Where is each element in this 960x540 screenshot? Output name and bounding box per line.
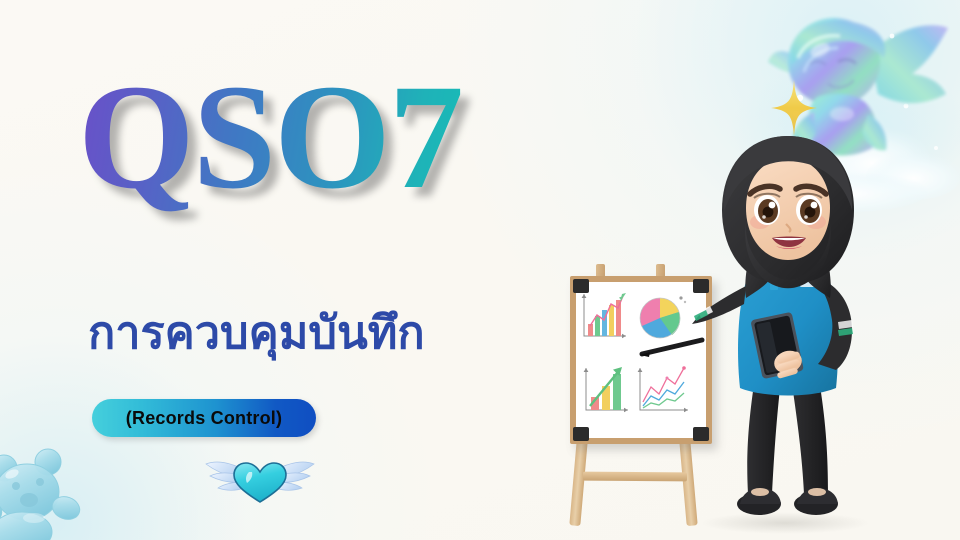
- pointer-stick: [640, 336, 718, 362]
- winged-heart-decoration: [200, 450, 320, 510]
- subtitle-thai: การควบคุมบันทึก: [88, 296, 425, 368]
- page-title: QSO7: [78, 62, 462, 212]
- board-clip-top-left: [573, 279, 589, 293]
- chart-pie: [640, 296, 686, 338]
- presenter-character: [688, 126, 888, 540]
- easel-crossbar: [583, 472, 687, 482]
- chart-bar-growth-arrow: [584, 367, 628, 412]
- gummy-bear-decoration: [0, 440, 102, 540]
- chart-bar-with-trend-line: [582, 293, 626, 338]
- records-control-badge: (Records Control): [92, 399, 316, 437]
- title-block: QSO7: [78, 62, 462, 212]
- slide-canvas: QSO7 การควบคุมบันทึก (Records Control): [0, 0, 960, 540]
- board-clip-bottom-left: [573, 427, 589, 441]
- badge-label: (Records Control): [126, 408, 282, 429]
- chart-multi-line: [638, 366, 688, 412]
